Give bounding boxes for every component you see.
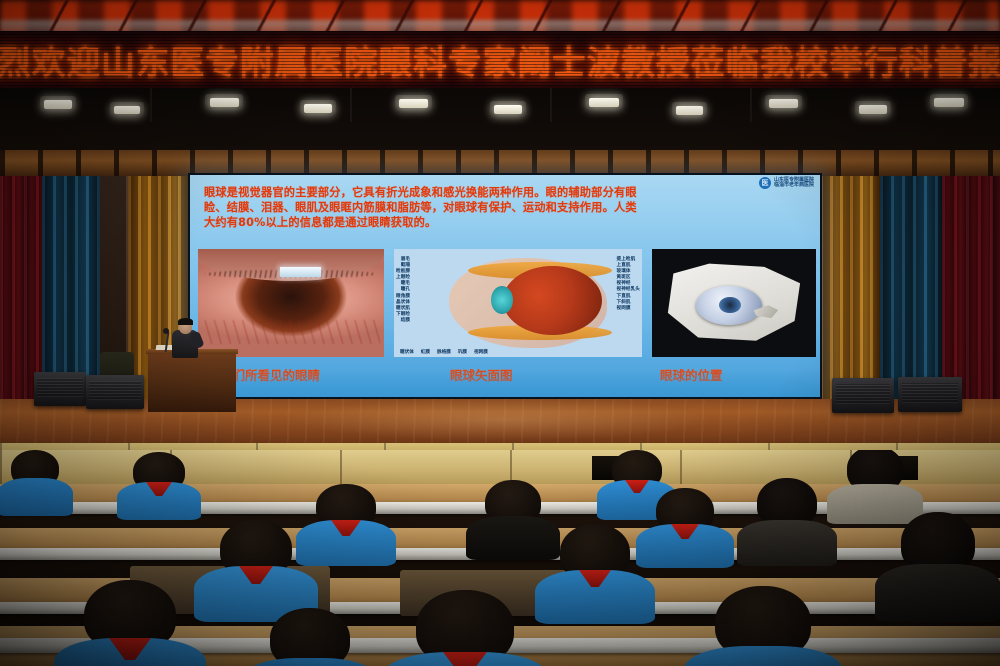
slide-panel-row: 眉毛 眶隔 睑板腺 上眼睑 睫毛 瞳孔 眼角膜 晶状体 睫状肌 下眼睑 结膜 提… [198,249,816,357]
slide-panel-eye-anatomy: 眉毛 眶隔 睑板腺 上眼睑 睫毛 瞳孔 眼角膜 晶状体 睫状肌 下眼睑 结膜 提… [394,249,642,357]
student [690,586,836,666]
adult-coat [737,520,837,566]
audience-area [0,450,1000,666]
adult-coat [875,564,1000,622]
anatomy-right-labels: 提上睑肌 上直肌 玻璃体 黄斑区 视神经 视神经乳头 下直肌 下斜肌 视网膜 [617,257,640,312]
audience-adult [740,478,834,556]
stage-light [44,100,72,109]
stage-light [114,106,140,114]
led-banner: 热烈欢迎山东医专附属医院眼科专家阚士波教授莅临我校举行科普报告 [0,31,1000,89]
student [250,608,370,666]
speaker-hair [178,318,193,325]
student [540,524,650,616]
anatomy-label: 视网膜 [474,349,488,355]
audience-adult [830,450,920,510]
auditorium-photo: 热烈欢迎山东医专附属医院眼科专家阚士波教授莅临我校举行科普报告 [0,0,1000,666]
stage-light [210,98,239,107]
student-uniform [0,478,73,516]
student [200,520,312,614]
anatomy-label: 视网膜 [617,306,631,312]
slide-surface: 医 山东医专附属医院 临淄市老年病医院 眼球是视觉器官的主要部分，它具有折光成象… [190,175,820,397]
anatomy-label: 巩膜 [458,349,467,355]
stage-monitor-speaker [898,377,962,412]
stage-light [859,105,887,114]
stage-light [494,105,522,114]
stage-light [934,98,964,107]
ceiling-rails [0,0,1000,34]
student [0,450,70,510]
projection-screen: 医 山东医专附属医院 临淄市老年病医院 眼球是视觉器官的主要部分，它具有折光成象… [188,173,822,399]
stage-monitor-speaker [34,372,86,406]
slide-line-1: 眼球是视觉器官的主要部分，它具有折光成象和感光换能两种作用。眼的辅助部分有眼 [204,185,810,200]
stage-light [676,106,703,115]
truss-hanger [550,88,552,122]
stage-light [399,99,428,108]
slide-panel-eye-photo [198,249,384,357]
stage-light [769,99,798,108]
slide-line-2: 睑、结膜、泪器、眼肌及眼眶内筋膜和脂肪等，对眼球有保护、运动和支持作用。人类 [204,200,810,215]
led-banner-text: 热烈欢迎山东医专附属医院眼科专家阚士波教授莅临我校举行科普报告 [0,31,1000,89]
slide-body-text: 眼球是视觉器官的主要部分，它具有折光成象和感光换能两种作用。眼的辅助部分有眼 睑… [204,185,810,230]
student [120,452,198,512]
eye-catchlight [280,267,321,277]
ceiling-truss [0,88,1000,176]
student-uniform [684,646,842,666]
truss-hanger [750,88,752,122]
student [60,580,200,666]
audience-adult [880,512,996,612]
anatomy-left-labels: 眉毛 眶隔 睑板腺 上眼睑 睫毛 瞳孔 眼角膜 晶状体 睫状肌 下眼睑 结膜 [396,257,410,324]
truss-hanger [150,88,152,122]
stage-monitor-speaker [832,378,894,413]
anatomy-bottom-labels: 睫状体 虹膜 脉络膜 巩膜 视网膜 [400,349,488,355]
stage-light [304,104,332,113]
screen-bottom-glow [190,369,820,397]
eye3d-iris [719,297,740,313]
anatomy-label: 脉络膜 [437,349,451,355]
student [300,484,392,558]
student [390,590,540,666]
stage-light [589,98,619,107]
truss-hanger [350,88,352,122]
anatomy-label: 结膜 [401,318,410,324]
eye-veins [202,320,381,344]
slide-panel-eye-3d [652,249,816,357]
stage-monitor-speaker [86,375,144,409]
podium [148,352,236,412]
slide-line-3: 大约有80%以上的信息都是通过眼睛获取的。 [204,215,810,230]
student [640,488,730,560]
anatomy-label: 虹膜 [421,349,430,355]
anatomy-lens [491,286,513,314]
student-uniform [244,658,376,666]
microphone-head [163,328,169,334]
anatomy-label: 睫状体 [400,349,414,355]
